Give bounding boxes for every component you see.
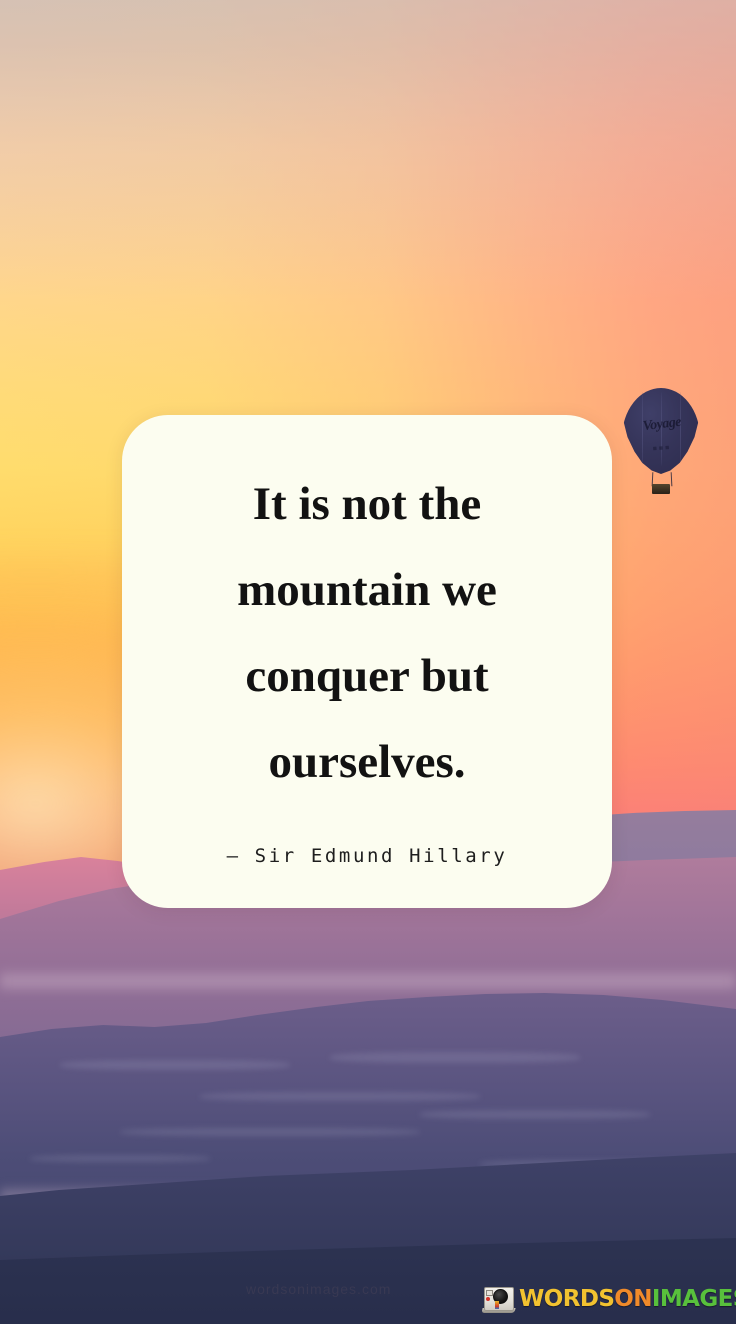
brand-segment-images: IMAGES bbox=[652, 1286, 736, 1312]
ghost-watermark-text: wordsonimages.com bbox=[246, 1281, 391, 1297]
brand-wordmark: WORDSONIMAGES.COM bbox=[519, 1288, 736, 1311]
quote-attribution: – Sir Edmund Hillary bbox=[227, 845, 508, 867]
site-watermark[interactable]: WORDSONIMAGES.COM bbox=[482, 1281, 736, 1317]
quote-line: conquer but bbox=[150, 633, 584, 719]
sky-top-haze bbox=[0, 0, 736, 300]
strata-band bbox=[330, 1052, 580, 1063]
quote-line: ourselves. bbox=[150, 719, 584, 805]
quote-line: It is not the bbox=[150, 461, 584, 547]
brand-segment-on: ON bbox=[614, 1286, 652, 1312]
polaroid-camera-icon bbox=[482, 1284, 516, 1314]
camera-indicator bbox=[486, 1297, 490, 1301]
strata-band bbox=[120, 1128, 420, 1136]
quote-image-canvas: Voyage ■■■ It is not the mountain we con… bbox=[0, 0, 736, 1324]
strata-band bbox=[200, 1092, 480, 1101]
camera-flash bbox=[486, 1290, 493, 1296]
camera-rainbow-stripe bbox=[495, 1301, 499, 1309]
valley-haze-upper bbox=[0, 968, 736, 994]
quote-line: mountain we bbox=[150, 547, 584, 633]
hot-air-balloon: Voyage ■■■ bbox=[622, 388, 704, 500]
quote-card: It is not the mountain we conquer but ou… bbox=[122, 415, 612, 908]
strata-band bbox=[30, 1155, 210, 1162]
brand-segment-words: WORDS bbox=[519, 1286, 614, 1312]
strata-band bbox=[420, 1110, 650, 1119]
strata-band bbox=[60, 1060, 290, 1070]
balloon-basket bbox=[652, 484, 670, 494]
